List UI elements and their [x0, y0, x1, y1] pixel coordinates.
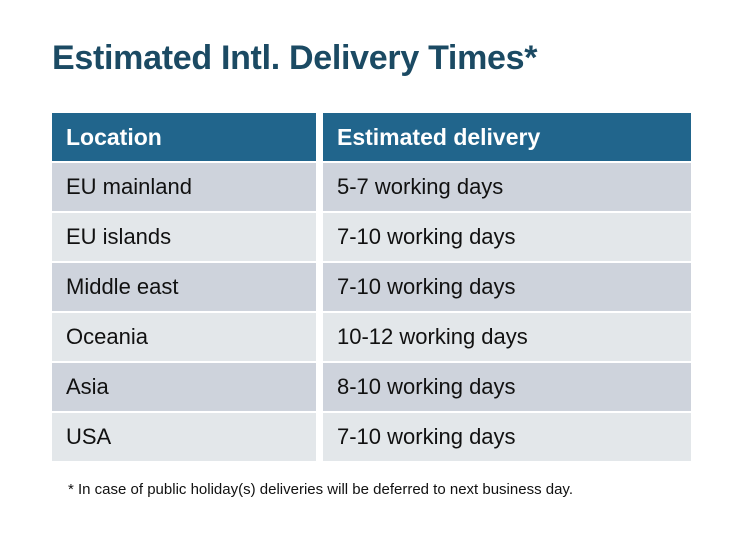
column-header-location: Location [52, 113, 316, 161]
cell-delivery: 5-7 working days [323, 163, 691, 211]
cell-delivery: 8-10 working days [323, 363, 691, 411]
cell-delivery: 7-10 working days [323, 263, 691, 311]
table-header-row: Location Estimated delivery [52, 113, 691, 161]
cell-location: USA [52, 413, 316, 461]
delivery-times-table: Location Estimated delivery EU mainland … [52, 113, 691, 461]
table-row: Oceania 10-12 working days [52, 313, 691, 361]
footnote: * In case of public holiday(s) deliverie… [68, 480, 573, 500]
delivery-times-page: Estimated Intl. Delivery Times* Location… [0, 0, 745, 536]
table-row: EU mainland 5-7 working days [52, 163, 691, 211]
cell-delivery: 10-12 working days [323, 313, 691, 361]
table-row: EU islands 7-10 working days [52, 213, 691, 261]
page-title: Estimated Intl. Delivery Times* [52, 36, 537, 80]
cell-delivery: 7-10 working days [323, 213, 691, 261]
cell-location: Middle east [52, 263, 316, 311]
column-header-estimated-delivery: Estimated delivery [323, 113, 691, 161]
cell-location: EU mainland [52, 163, 316, 211]
cell-location: EU islands [52, 213, 316, 261]
cell-location: Oceania [52, 313, 316, 361]
cell-delivery: 7-10 working days [323, 413, 691, 461]
table-row: Middle east 7-10 working days [52, 263, 691, 311]
table-row: Asia 8-10 working days [52, 363, 691, 411]
table-row: USA 7-10 working days [52, 413, 691, 461]
cell-location: Asia [52, 363, 316, 411]
